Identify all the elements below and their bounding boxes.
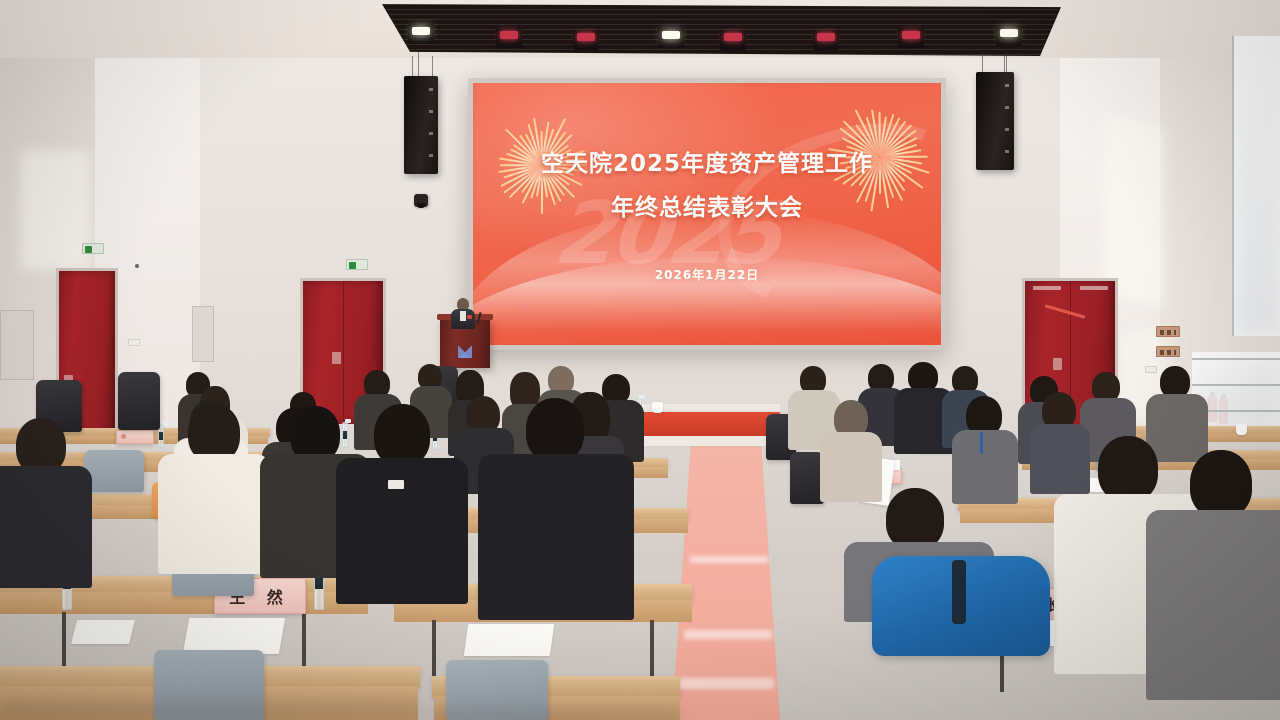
water-bottle-7 — [342, 422, 348, 448]
placard-row3-left — [116, 430, 154, 444]
jacket-logo — [388, 480, 404, 489]
window-rail-2 — [1192, 384, 1280, 386]
body — [1146, 394, 1208, 462]
shadow-front-center — [430, 708, 680, 720]
window-right — [1232, 36, 1280, 336]
line-array-speaker-right — [976, 72, 1014, 170]
wall-control-box-left-2 — [0, 310, 34, 380]
ceiling-light-4 — [658, 28, 684, 48]
led-screen-frame: 2025 空天院2025年度资产管理工作 年终总结表彰大会 2026年1月22日 — [468, 78, 946, 350]
chair-back-left-1 — [118, 372, 160, 430]
ceiling-truss-grid — [368, 4, 1068, 56]
paper-2 — [464, 624, 554, 656]
screen-title: 空天院2025年度资产管理工作 年终总结表彰大会 — [473, 143, 941, 230]
head — [886, 488, 944, 550]
body — [820, 432, 882, 502]
door-plate-left-2 — [332, 352, 341, 364]
conference-hall-photo: 2025 空天院2025年度资产管理工作 年终总结表彰大会 2026年1月22日 — [0, 0, 1280, 720]
head — [526, 398, 584, 462]
desk-leg-l2 — [302, 612, 306, 674]
door-push-bar-right-2[interactable] — [1080, 286, 1108, 290]
paper-1 — [183, 618, 285, 654]
led-screen: 2025 空天院2025年度资产管理工作 年终总结表彰大会 2026年1月22日 — [473, 83, 941, 345]
body — [1030, 424, 1090, 494]
wall-sign-right-2 — [1156, 346, 1180, 357]
ceiling-light-7 — [898, 28, 924, 48]
screen-title-line2: 年终总结表彰大会 — [473, 187, 941, 231]
presenter-shirt — [460, 311, 466, 321]
head — [1190, 450, 1252, 518]
sunlight-patch-1 — [20, 150, 90, 270]
speaker-right-wire-a — [982, 52, 983, 74]
door-push-bar-right[interactable] — [1033, 286, 1061, 290]
body — [952, 430, 1018, 504]
exit-sign-left — [82, 243, 104, 254]
light-switch-left[interactable] — [128, 339, 140, 346]
shadow-front-left — [0, 700, 420, 720]
presenter-badge — [467, 315, 472, 319]
chair-mid-left-2 — [84, 450, 144, 492]
wall-sign-right-1 — [1156, 326, 1180, 337]
body — [158, 454, 270, 574]
wall-control-box-left — [192, 306, 214, 362]
backpack-strap — [952, 560, 966, 624]
desk-leg-l1 — [62, 612, 66, 674]
speaker-right-wire-b — [1006, 52, 1007, 74]
chair-stage-side-2 — [790, 452, 824, 504]
floor-reflection-2 — [684, 630, 772, 639]
speaker-left-wire-b — [432, 56, 433, 78]
floor-reflection-1 — [690, 556, 768, 563]
desk-leg-c2 — [650, 620, 654, 682]
ceiling-light-5 — [720, 30, 746, 50]
door-seam-left-2 — [343, 281, 344, 424]
lanyard — [980, 432, 983, 454]
wall-sensor-left — [135, 264, 139, 268]
lectern-logo-icon — [458, 344, 472, 358]
paper-3 — [71, 620, 135, 644]
paper-cup-1 — [652, 402, 663, 413]
ceiling-light-8 — [996, 26, 1022, 46]
paper-cup-2 — [1236, 424, 1247, 435]
line-array-speaker-left — [404, 76, 438, 174]
body — [478, 454, 634, 620]
floor-reflection-3 — [678, 678, 774, 689]
head — [374, 404, 430, 466]
ceiling-light-6 — [813, 30, 839, 50]
presenter — [451, 298, 475, 328]
screen-title-line1: 空天院2025年度资产管理工作 — [473, 143, 941, 187]
head — [1098, 436, 1158, 502]
ptz-camera — [414, 194, 428, 207]
body — [0, 466, 92, 588]
exit-sign-center-left — [346, 259, 368, 270]
ceiling-light-1 — [408, 24, 434, 44]
window-rail-1 — [1192, 358, 1280, 360]
stage-platform-front — [622, 412, 780, 438]
light-switch-right[interactable] — [1145, 366, 1157, 373]
speaker-left-wire-a — [412, 56, 413, 78]
desk-leg-c1 — [432, 620, 436, 682]
window-mullion-right — [1232, 36, 1234, 336]
door-plate-right — [1053, 358, 1062, 370]
ceiling-light-3 — [573, 30, 599, 50]
screen-date: 2026年1月22日 — [473, 266, 941, 283]
body — [1146, 510, 1280, 700]
ceiling-light-2 — [496, 28, 522, 48]
ceiling-slats — [368, 4, 1068, 56]
